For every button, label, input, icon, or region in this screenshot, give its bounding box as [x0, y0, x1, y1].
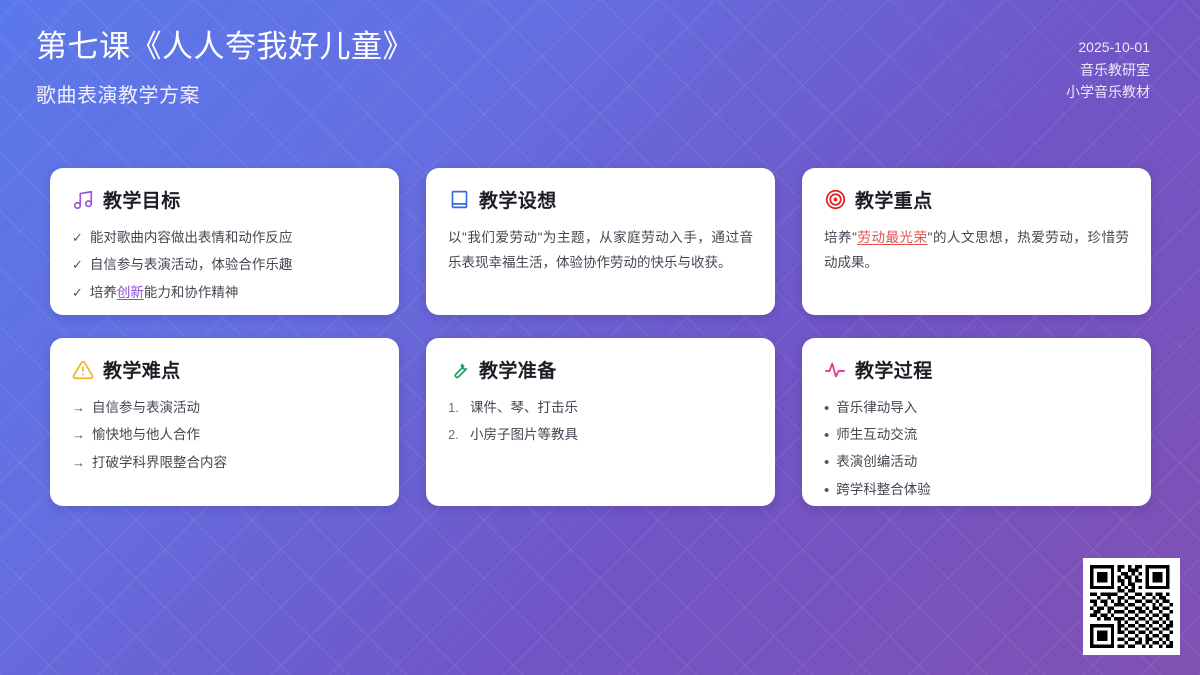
card-teaching-preparation[interactable]: 教学准备 1. 课件、琴、打击乐 2. 小房子图片等教具 [426, 338, 775, 506]
bullet-marker: • [824, 428, 829, 443]
card-header: 教学准备 [448, 356, 753, 383]
music-note-icon [72, 189, 94, 211]
meta-department: 音乐教研室 [1066, 59, 1150, 82]
list-item-text: 能对歌曲内容做出表情和动作反应 [90, 226, 293, 249]
list-item: • 师生互动交流 [824, 423, 1129, 446]
text-pre: 培养" [824, 230, 857, 245]
cards-grid: 教学目标 ✓ 能对歌曲内容做出表情和动作反应 ✓ 自信参与表演活动，体验合作乐趣… [50, 168, 1150, 506]
bullet-marker: • [824, 401, 829, 416]
title-block: 第七课《人人夸我好儿童》 歌曲表演教学方案 [36, 28, 414, 108]
card-header: 教学设想 [448, 186, 753, 213]
qr-code [1090, 565, 1173, 648]
qr-code-container[interactable] [1083, 558, 1180, 655]
card-teaching-goal[interactable]: 教学目标 ✓ 能对歌曲内容做出表情和动作反应 ✓ 自信参与表演活动，体验合作乐趣… [50, 168, 399, 315]
highlight-term: 创新 [117, 285, 144, 300]
card-header: 教学重点 [824, 186, 1129, 213]
book-icon [448, 189, 470, 211]
card-body: → 自信参与表演活动 → 愉快地与他人合作 → 打破学科界限整合内容 [72, 396, 377, 474]
highlight-term: 劳动最光荣 [857, 230, 928, 245]
list-item-text: 自信参与表演活动 [92, 396, 200, 419]
meta-date: 2025-10-01 [1066, 36, 1150, 59]
list-item-text: 音乐律动导入 [836, 396, 917, 419]
card-header: 教学过程 [824, 356, 1129, 383]
arrow-marker: → [72, 452, 85, 474]
arrow-marker: → [72, 397, 85, 419]
card-title: 教学难点 [103, 356, 181, 383]
list-item-text: 师生互动交流 [836, 423, 917, 446]
list-item: ✓ 培养创新能力和协作精神 [72, 281, 377, 304]
slide-root: 第七课《人人夸我好儿童》 歌曲表演教学方案 2025-10-01 音乐教研室 小… [0, 0, 1200, 675]
header-meta: 2025-10-01 音乐教研室 小学音乐教材 [1066, 28, 1150, 104]
card-body: 1. 课件、琴、打击乐 2. 小房子图片等教具 [448, 396, 753, 447]
card-body: ✓ 能对歌曲内容做出表情和动作反应 ✓ 自信参与表演活动，体验合作乐趣 ✓ 培养… [72, 226, 377, 304]
list-item-text: 打破学科界限整合内容 [92, 451, 227, 474]
list-item: 2. 小房子图片等教具 [448, 423, 753, 446]
card-teaching-difficulty[interactable]: 教学难点 → 自信参与表演活动 → 愉快地与他人合作 → 打破学科界限整合内容 [50, 338, 399, 506]
activity-pulse-icon [824, 359, 846, 381]
check-marker: ✓ [72, 254, 83, 276]
list-number: 2. [448, 424, 463, 446]
list-item-text: 表演创编活动 [836, 450, 917, 473]
card-title: 教学过程 [855, 356, 933, 383]
list-item: 1. 课件、琴、打击乐 [448, 396, 753, 419]
card-header: 教学难点 [72, 356, 377, 383]
bullet-marker: • [824, 483, 829, 498]
list-item-text: 跨学科整合体验 [836, 478, 931, 501]
list-item-text: 课件、琴、打击乐 [470, 396, 578, 419]
list-item: • 表演创编活动 [824, 450, 1129, 473]
target-icon [824, 189, 846, 211]
slide-header: 第七课《人人夸我好儿童》 歌曲表演教学方案 2025-10-01 音乐教研室 小… [0, 0, 1200, 140]
wrench-icon [448, 359, 470, 381]
list-item: ✓ 能对歌曲内容做出表情和动作反应 [72, 226, 377, 249]
check-marker: ✓ [72, 227, 83, 249]
list-item-text: 自信参与表演活动，体验合作乐趣 [90, 253, 293, 276]
arrow-marker: → [72, 424, 85, 446]
bullet-marker: • [824, 455, 829, 470]
list-item-text: 愉快地与他人合作 [92, 423, 200, 446]
card-title: 教学准备 [479, 356, 557, 383]
list-number: 1. [448, 397, 463, 419]
check-marker: ✓ [72, 282, 83, 304]
list-item: • 跨学科整合体验 [824, 478, 1129, 501]
list-item: ✓ 自信参与表演活动，体验合作乐趣 [72, 253, 377, 276]
list-item-text: 培养创新能力和协作精神 [90, 281, 239, 304]
card-body: • 音乐律动导入 • 师生互动交流 • 表演创编活动 • 跨学科整合体验 [824, 396, 1129, 501]
list-item: → 愉快地与他人合作 [72, 423, 377, 446]
card-header: 教学目标 [72, 186, 377, 213]
list-item: → 自信参与表演活动 [72, 396, 377, 419]
card-paragraph: 以"我们爱劳动"为主题，从家庭劳动入手，通过音乐表现幸福生活，体验协作劳动的快乐… [448, 226, 753, 276]
meta-material: 小学音乐教材 [1066, 81, 1150, 104]
card-teaching-process[interactable]: 教学过程 • 音乐律动导入 • 师生互动交流 • 表演创编活动 • 跨学科整合体… [802, 338, 1151, 506]
list-item: • 音乐律动导入 [824, 396, 1129, 419]
card-teaching-focus[interactable]: 教学重点 培养"劳动最光荣"的人文思想，热爱劳动，珍惜劳动成果。 [802, 168, 1151, 315]
card-teaching-idea[interactable]: 教学设想 以"我们爱劳动"为主题，从家庭劳动入手，通过音乐表现幸福生活，体验协作… [426, 168, 775, 315]
text-pre: 培养 [90, 285, 117, 300]
list-item: → 打破学科界限整合内容 [72, 451, 377, 474]
card-title: 教学目标 [103, 186, 181, 213]
page-subtitle: 歌曲表演教学方案 [36, 79, 414, 108]
list-item-text: 小房子图片等教具 [470, 423, 578, 446]
card-paragraph: 培养"劳动最光荣"的人文思想，热爱劳动，珍惜劳动成果。 [824, 226, 1129, 276]
warning-triangle-icon [72, 359, 94, 381]
card-title: 教学设想 [479, 186, 557, 213]
page-title: 第七课《人人夸我好儿童》 [36, 28, 414, 67]
card-title: 教学重点 [855, 186, 933, 213]
text-post: 能力和协作精神 [144, 285, 239, 300]
